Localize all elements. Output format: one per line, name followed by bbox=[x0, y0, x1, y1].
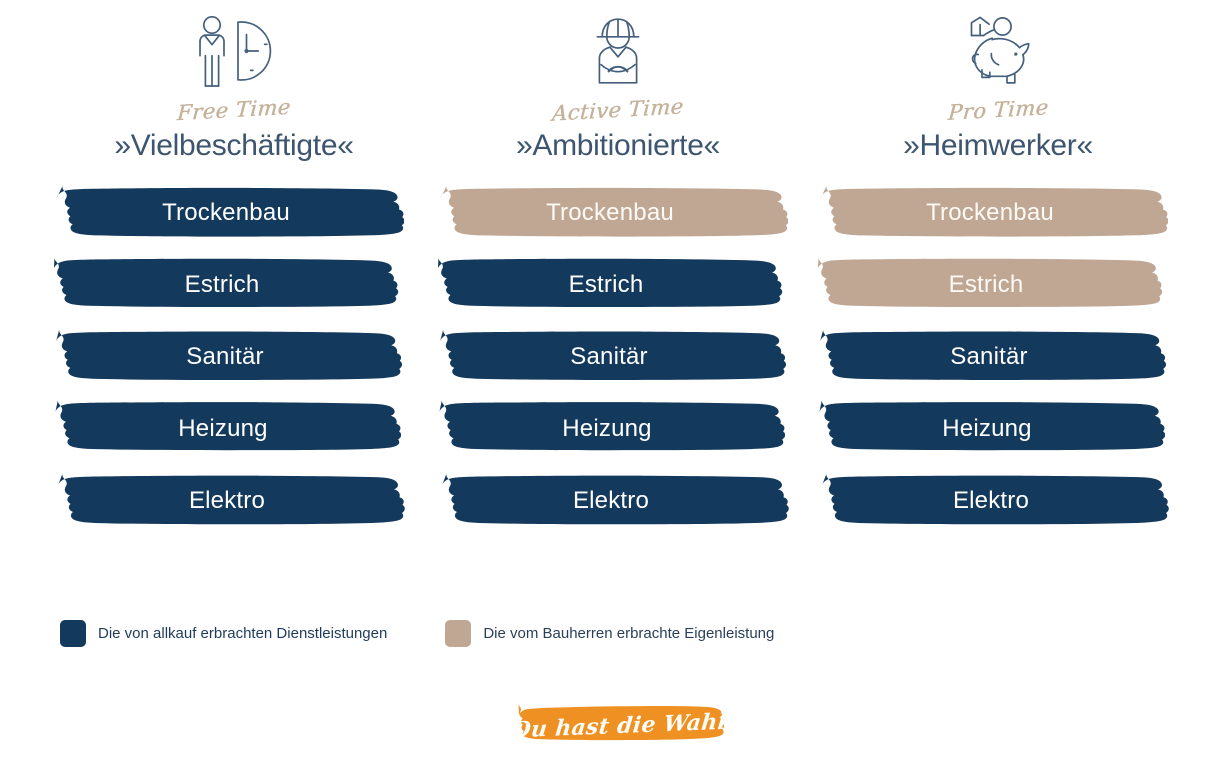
service-bar-label: Trockenbau bbox=[546, 199, 674, 227]
infographic-canvas: Free Time »Vielbeschäftigte« Trockenbau … bbox=[0, 0, 1228, 783]
column-script-label: Pro Time bbox=[947, 95, 1049, 125]
service-bar[interactable]: Heizung bbox=[45, 398, 401, 460]
column-title: »Ambitionierte« bbox=[516, 129, 720, 163]
service-bar-label: Sanitär bbox=[950, 343, 1027, 371]
column-title: »Vielbeschäftigte« bbox=[114, 129, 353, 163]
package-columns: Free Time »Vielbeschäftigte« Trockenbau … bbox=[0, 0, 1228, 542]
legend: Die von allkauf erbrachten Dienstleistun… bbox=[60, 620, 774, 647]
piggy-bank-with-coin-icon bbox=[958, 12, 1038, 94]
service-bar[interactable]: Trockenbau bbox=[812, 182, 1168, 244]
service-bar[interactable]: Heizung bbox=[809, 398, 1165, 460]
service-bar-list: Trockenbau Estrich Sanitär bbox=[44, 182, 424, 532]
service-bar-label: Sanitär bbox=[570, 343, 647, 371]
choice-badge[interactable]: Du hast die Wahl bbox=[513, 702, 725, 750]
service-bar[interactable]: Estrich bbox=[428, 254, 784, 316]
service-bar[interactable]: Estrich bbox=[808, 254, 1164, 316]
service-bar[interactable]: Elektro bbox=[49, 470, 405, 532]
service-bar-label: Elektro bbox=[189, 487, 265, 515]
legend-label: Die von allkauf erbrachten Dienstleistun… bbox=[98, 625, 387, 642]
service-bar-label: Heizung bbox=[562, 415, 651, 443]
legend-item-eigenleistung: Die vom Bauherren erbrachte Eigenleistun… bbox=[445, 620, 774, 647]
worker-hardhat-crossed-arms-icon bbox=[582, 12, 654, 94]
service-bar-label: Estrich bbox=[949, 271, 1024, 299]
package-column-heimwerker: Pro Time »Heimwerker« Trockenbau Estrich bbox=[808, 0, 1188, 542]
service-bar-label: Trockenbau bbox=[162, 199, 290, 227]
service-bar[interactable]: Elektro bbox=[813, 470, 1169, 532]
service-bar[interactable]: Heizung bbox=[429, 398, 785, 460]
service-bar[interactable]: Elektro bbox=[433, 470, 789, 532]
column-header: Active Time »Ambitionierte« bbox=[428, 0, 808, 182]
package-column-vielbeschaeftigte: Free Time »Vielbeschäftigte« Trockenbau … bbox=[44, 0, 424, 542]
service-bar[interactable]: Sanitär bbox=[431, 326, 787, 388]
column-header: Pro Time »Heimwerker« bbox=[808, 0, 1188, 182]
service-bar[interactable]: Trockenbau bbox=[48, 182, 404, 244]
legend-swatch-tan bbox=[445, 620, 471, 647]
service-bar-label: Elektro bbox=[573, 487, 649, 515]
column-title: »Heimwerker« bbox=[903, 129, 1093, 163]
legend-item-dienstleistungen: Die von allkauf erbrachten Dienstleistun… bbox=[60, 620, 387, 647]
service-bar-label: Estrich bbox=[569, 271, 644, 299]
column-header: Free Time »Vielbeschäftigte« bbox=[44, 0, 424, 182]
service-bar-label: Trockenbau bbox=[926, 199, 1054, 227]
package-column-ambitionierte: Active Time »Ambitionierte« Trockenbau E… bbox=[428, 0, 808, 542]
service-bar-label: Sanitär bbox=[186, 343, 263, 371]
legend-label: Die vom Bauherren erbrachte Eigenleistun… bbox=[483, 625, 774, 642]
person-with-clock-icon bbox=[186, 12, 282, 94]
legend-swatch-navy bbox=[60, 620, 86, 647]
service-bar-list: Trockenbau Estrich Sanitär bbox=[808, 182, 1188, 532]
service-bar-label: Estrich bbox=[185, 271, 260, 299]
service-bar[interactable]: Trockenbau bbox=[432, 182, 788, 244]
badge-label: Du hast die Wahl bbox=[511, 698, 728, 755]
service-bar-label: Heizung bbox=[178, 415, 267, 443]
service-bar-list: Trockenbau Estrich Sanitär bbox=[428, 182, 808, 532]
service-bar[interactable]: Estrich bbox=[44, 254, 400, 316]
service-bar[interactable]: Sanitär bbox=[811, 326, 1167, 388]
service-bar[interactable]: Sanitär bbox=[47, 326, 403, 388]
column-script-label: Free Time bbox=[176, 95, 291, 125]
service-bar-label: Elektro bbox=[953, 487, 1029, 515]
column-script-label: Active Time bbox=[551, 94, 684, 125]
service-bar-label: Heizung bbox=[942, 415, 1031, 443]
